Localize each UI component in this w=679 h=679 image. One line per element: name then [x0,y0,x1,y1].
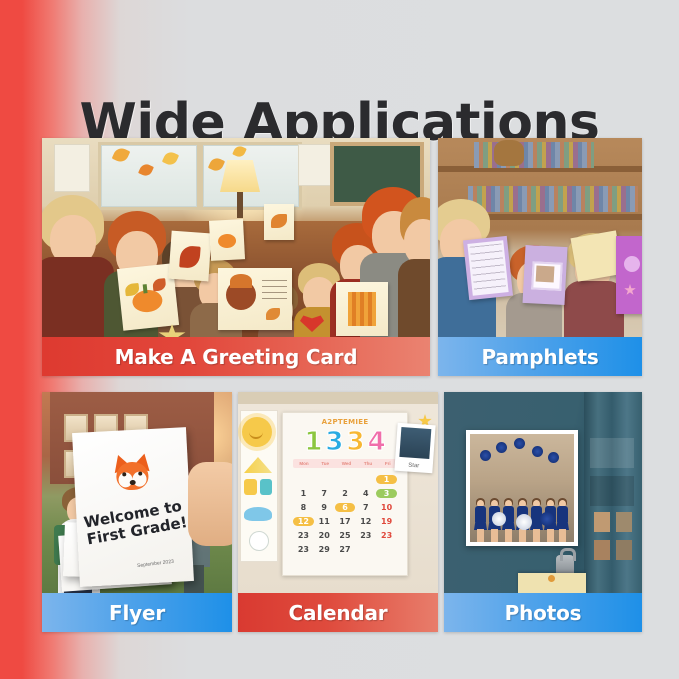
calendar-heading: A2РTEMIEЕ [283,418,407,426]
calendar-day: 27 [335,545,356,554]
pamphlet-with-photo [523,245,568,305]
fox-logo-icon [105,453,159,496]
child-figure [42,187,112,337]
caption-label: Make A Greeting Card [115,345,358,369]
polaroid-caption: Star [395,462,433,471]
calendar-day: 4 [355,489,376,498]
card-make-a-greeting-card[interactable]: Make A Greeting Card [42,138,430,376]
calendar-day: 9 [314,503,335,512]
caption-label: Calendar [289,601,388,625]
card-caption-flyer: Flyer [42,593,232,632]
calendar-big-numbers: 1 3 3 4 [283,428,407,456]
card-caption-pamphlets: Pamphlets [438,337,642,376]
calendar-day: 8 [293,503,314,512]
pompom-white-icon [516,514,532,530]
calendar-day: 23 [293,545,314,554]
calendar-day [355,545,376,554]
sticky-note [518,573,586,593]
calendar-day: 1 [376,475,397,484]
scene-library [438,138,642,337]
sun-drawing-icon [242,417,272,447]
calendar-day: 20 [314,531,335,540]
day-name: Fri [385,461,391,466]
scene-schoolyard: Welcome to First Grade! September 2023 [42,392,232,593]
big-number: 1 [304,428,322,456]
wall-trim [238,392,438,404]
drawing-icon [249,531,269,551]
card-image-pamphlets [438,138,642,337]
drawing-icon [244,457,272,473]
calendar-day: 2 [335,489,356,498]
drawing-icon [244,507,272,521]
books-row [474,142,594,168]
hand-fingers [188,462,232,546]
big-number: 3 [325,428,343,456]
photo-frame [466,430,578,546]
wall-poster [54,144,90,192]
calendar-day-names: Mon Tue Wed Thu Fri [293,459,397,468]
calendar-day: 7 [314,489,335,498]
pompom-icon [496,442,507,453]
caption-label: Photos [505,601,582,625]
caption-label: Pamphlets [481,345,598,369]
card-image-greeting-card [42,138,430,337]
big-number: 3 [347,428,365,456]
craft-card-small [264,204,294,240]
calendar-day: 29 [314,545,335,554]
pompom-icon [514,438,525,449]
calendar-day [335,475,356,484]
applications-grid: Make A Greeting Card [42,138,642,632]
child-figure [398,187,430,337]
flyer-front-page: Welcome to First Grade! September 2023 [72,427,194,587]
card-flyer[interactable]: Welcome to First Grade! September 2023 F… [42,392,232,632]
calendar-day: 23 [376,531,397,540]
calendar-day: 17 [335,517,356,526]
calendar-poster: A2РTEMIEЕ 1 3 3 4 Mon Tue Wed Thu F [282,412,408,576]
scene-locker-door [444,392,642,593]
craft-card-popup [336,282,388,336]
locker-row [584,392,642,593]
calendar-day: 7 [355,503,376,512]
card-caption-photos: Photos [444,593,642,632]
card-image-flyer: Welcome to First Grade! September 2023 [42,392,232,593]
caption-label: Flyer [109,601,165,625]
calendar-day: 23 [293,531,314,540]
card-caption-greeting-card: Make A Greeting Card [42,337,430,376]
pompom-icon [480,450,491,461]
pompom-white-icon [492,512,506,526]
card-image-photos [444,392,642,593]
calendar-date-grid: 1 1 7 2 4 3 8 9 6 7 10 12 11 [293,475,397,554]
craft-card-pumpkin-small [209,219,245,261]
kids-artwork-poster [240,410,278,562]
calendar-day: 23 [355,531,376,540]
big-number: 4 [368,428,386,456]
card-photos[interactable]: Photos [444,392,642,632]
calendar-day: 25 [335,531,356,540]
drawing-icon [260,479,272,495]
cheer-team-photo [470,434,574,542]
calendar-day: 10 [376,503,397,512]
pompom-icon [540,512,554,526]
drawing-icon [244,479,257,495]
poster-root: Wide Applications [0,0,679,679]
calendar-day: 19 [376,517,397,526]
day-name: Tue [321,461,329,466]
calendar-day: 6 [335,503,356,512]
pompom-icon [532,446,543,457]
calendar-day: 1 [293,489,314,498]
calendar-day: 3 [376,489,397,498]
day-name: Thu [364,461,372,466]
card-caption-calendar: Calendar [238,593,438,632]
flyer-footer: September 2023 [137,559,174,569]
pamphlet-lined [463,236,513,300]
card-image-calendar: A2РTEMIEЕ 1 3 3 4 Mon Tue Wed Thu F [238,392,438,593]
scene-classroom [42,138,430,337]
scene-classroom-wall: A2РTEMIEЕ 1 3 3 4 Mon Tue Wed Thu F [238,392,438,593]
calendar-day [293,475,314,484]
calendar-day [376,545,397,554]
pin-icon [548,575,555,582]
calendar-day: 12 [355,517,376,526]
pompom-icon [548,452,559,463]
day-name: Mon [299,461,308,466]
calendar-day [314,475,335,484]
card-calendar[interactable]: A2РTEMIEЕ 1 3 3 4 Mon Tue Wed Thu F [238,392,438,632]
day-name: Wed [342,461,351,466]
craft-card-turkey-open [218,268,292,330]
calendar-day [355,475,376,484]
calendar-day: 11 [314,517,335,526]
pamphlet-purple [616,236,642,314]
flyer-headline: Welcome to First Grade! [83,497,189,548]
polaroid-photo: Star [394,423,435,474]
lamp-stem [237,192,243,218]
card-pamphlets[interactable]: Pamphlets [438,138,642,376]
calendar-day: 12 [293,517,314,526]
teddy-bear-icon [494,140,524,166]
craft-card-leaf [168,231,211,282]
